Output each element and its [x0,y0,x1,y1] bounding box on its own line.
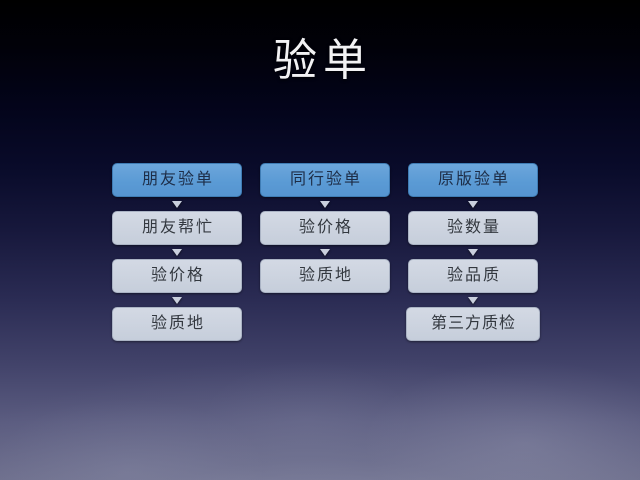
column-header-peer-inspection[interactable]: 同行验单 [260,163,390,197]
flow-columns: 朋友验单 朋友帮忙 验价格 验质地 同行验单 验价格 验质地 原版验单 验数量 … [112,163,542,341]
connector [112,245,242,259]
connector [260,197,390,211]
flow-step[interactable]: 验价格 [260,211,390,245]
connector [408,245,538,259]
flow-column-friend-inspection: 朋友验单 朋友帮忙 验价格 验质地 [112,163,242,341]
page-title: 验单 [0,34,640,88]
flow-step[interactable]: 第三方质检 [406,307,540,341]
flow-step[interactable]: 验质地 [112,307,242,341]
flow-step[interactable]: 验数量 [408,211,538,245]
arrow-down-icon [320,249,330,256]
column-header-original-inspection[interactable]: 原版验单 [408,163,538,197]
flow-column-original-inspection: 原版验单 验数量 验品质 第三方质检 [408,163,538,341]
connector [112,293,242,307]
connector [408,197,538,211]
arrow-down-icon [468,249,478,256]
flow-step[interactable]: 验品质 [408,259,538,293]
connector [112,197,242,211]
arrow-down-icon [172,297,182,304]
column-header-friend-inspection[interactable]: 朋友验单 [112,163,242,197]
flow-column-peer-inspection: 同行验单 验价格 验质地 [260,163,390,341]
arrow-down-icon [320,201,330,208]
connector [260,245,390,259]
flow-step[interactable]: 验价格 [112,259,242,293]
connector [408,293,538,307]
slide-canvas: 验单 朋友验单 朋友帮忙 验价格 验质地 同行验单 验价格 验质地 原版验单 验… [0,0,640,480]
arrow-down-icon [468,297,478,304]
arrow-down-icon [172,249,182,256]
arrow-down-icon [468,201,478,208]
flow-step[interactable]: 朋友帮忙 [112,211,242,245]
arrow-down-icon [172,201,182,208]
flow-step[interactable]: 验质地 [260,259,390,293]
